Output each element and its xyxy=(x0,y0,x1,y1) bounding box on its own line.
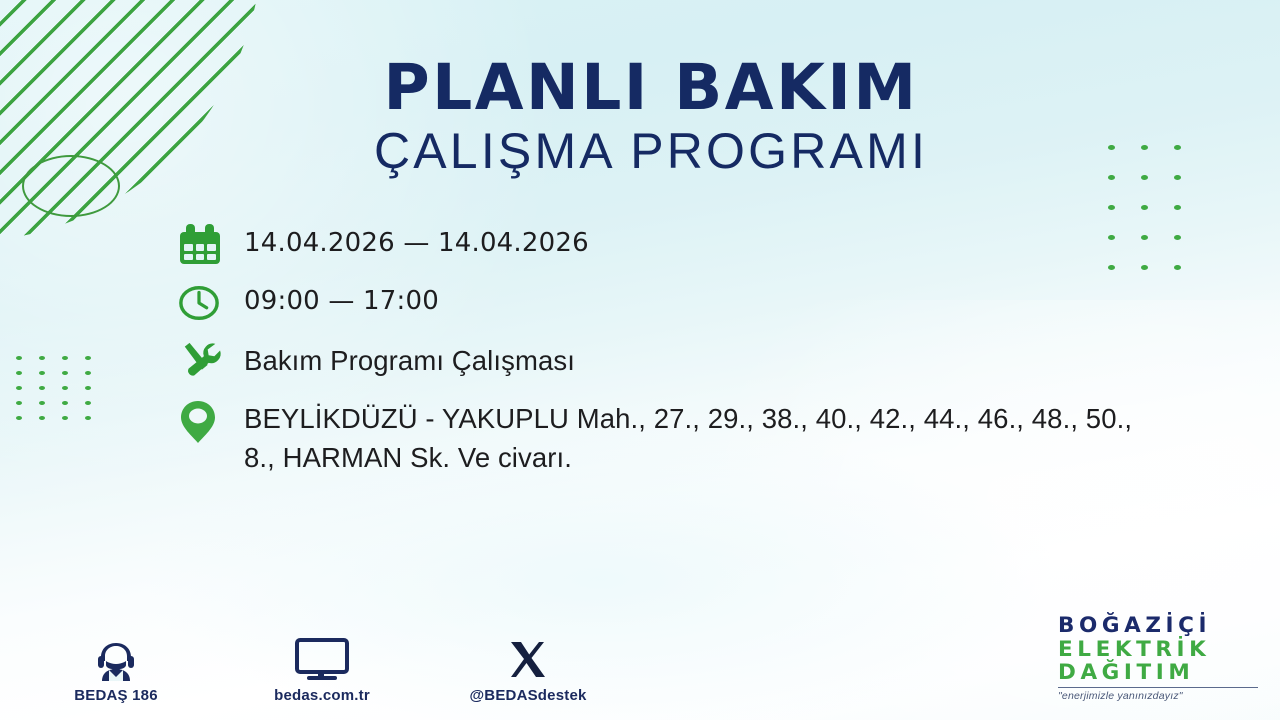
dot xyxy=(16,401,22,405)
dot xyxy=(16,371,22,375)
detail-icon-cell xyxy=(178,222,244,266)
dot xyxy=(62,401,68,405)
monitor-icon xyxy=(294,637,350,681)
dot xyxy=(62,356,68,360)
footer-contact-links: BEDAŞ 186 bedas.com.tr @BEDASdestek xyxy=(48,635,596,704)
dot xyxy=(39,386,45,390)
footer-item-twitter[interactable]: @BEDASdestek xyxy=(460,635,596,704)
dot xyxy=(39,371,45,375)
detail-row-work-type: Bakım Programı Çalışması xyxy=(178,338,1188,382)
calendar-icon xyxy=(178,224,222,266)
dot xyxy=(39,401,45,405)
location-text: BEYLİKDÜZÜ - YAKUPLU Mah., 27., 29., 38.… xyxy=(244,396,1144,477)
headset-support-icon xyxy=(93,639,139,681)
dot xyxy=(39,416,45,420)
footer-item-call-center[interactable]: BEDAŞ 186 xyxy=(48,635,184,704)
logo-tagline: "enerjimizle yanınızdayız" xyxy=(1058,687,1258,702)
detail-icon-cell xyxy=(178,280,244,324)
dot xyxy=(1174,205,1181,210)
logo-line-elektrik: ELEKTRİK xyxy=(1058,638,1258,662)
dot xyxy=(16,386,22,390)
detail-row-time: 09:00 — 17:00 xyxy=(178,280,1188,324)
footer-label-website: bedas.com.tr xyxy=(274,687,370,704)
bedas-corporate-logo: BOĞAZİÇİ ELEKTRİK DAĞITIM "enerjimizle y… xyxy=(1058,614,1258,702)
dot xyxy=(85,386,91,390)
logo-line-bogazici: BOĞAZİÇİ xyxy=(1058,614,1258,638)
dot xyxy=(85,356,91,360)
page-subtitle: ÇALIŞMA PROGRAMI xyxy=(22,124,1280,179)
dot xyxy=(85,401,91,405)
poster-heading-block: PLANLI BAKIM ÇALIŞMA PROGRAMI xyxy=(0,56,1280,179)
detail-icon-cell xyxy=(178,338,244,382)
dot-grid-decoration-left xyxy=(16,356,108,431)
work-type-text: Bakım Programı Çalışması xyxy=(244,338,575,380)
x-twitter-icon xyxy=(506,639,550,681)
dot xyxy=(62,386,68,390)
maintenance-details-list: 14.04.2026 — 14.04.2026 09:00 — 17:00 xyxy=(178,222,1188,491)
footer-icon-cell xyxy=(294,635,350,681)
detail-icon-cell xyxy=(178,396,244,446)
footer-label-twitter: @BEDASdestek xyxy=(469,687,586,704)
clock-icon xyxy=(178,282,220,324)
dot xyxy=(1108,205,1115,210)
dot xyxy=(62,371,68,375)
footer-label-call-center: BEDAŞ 186 xyxy=(74,687,158,704)
maintenance-announcement-poster: PLANLI BAKIM ÇALIŞMA PROGRAMI 14.04.2026… xyxy=(0,0,1280,720)
detail-row-date: 14.04.2026 — 14.04.2026 xyxy=(178,222,1188,266)
footer-item-website[interactable]: bedas.com.tr xyxy=(254,635,390,704)
dot xyxy=(1141,205,1148,210)
dot xyxy=(39,356,45,360)
time-range-text: 09:00 — 17:00 xyxy=(244,280,439,320)
date-range-text: 14.04.2026 — 14.04.2026 xyxy=(244,222,589,262)
detail-row-location: BEYLİKDÜZÜ - YAKUPLU Mah., 27., 29., 38.… xyxy=(178,396,1188,477)
dot xyxy=(16,356,22,360)
logo-line-dagitim: DAĞITIM xyxy=(1058,661,1258,685)
tools-icon xyxy=(178,340,224,382)
dot xyxy=(85,371,91,375)
page-title: PLANLI BAKIM xyxy=(22,56,1280,120)
dot xyxy=(62,416,68,420)
map-pin-icon xyxy=(178,398,218,446)
footer-icon-cell xyxy=(93,635,139,681)
footer-icon-cell xyxy=(506,635,550,681)
dot xyxy=(16,416,22,420)
dot xyxy=(85,416,91,420)
